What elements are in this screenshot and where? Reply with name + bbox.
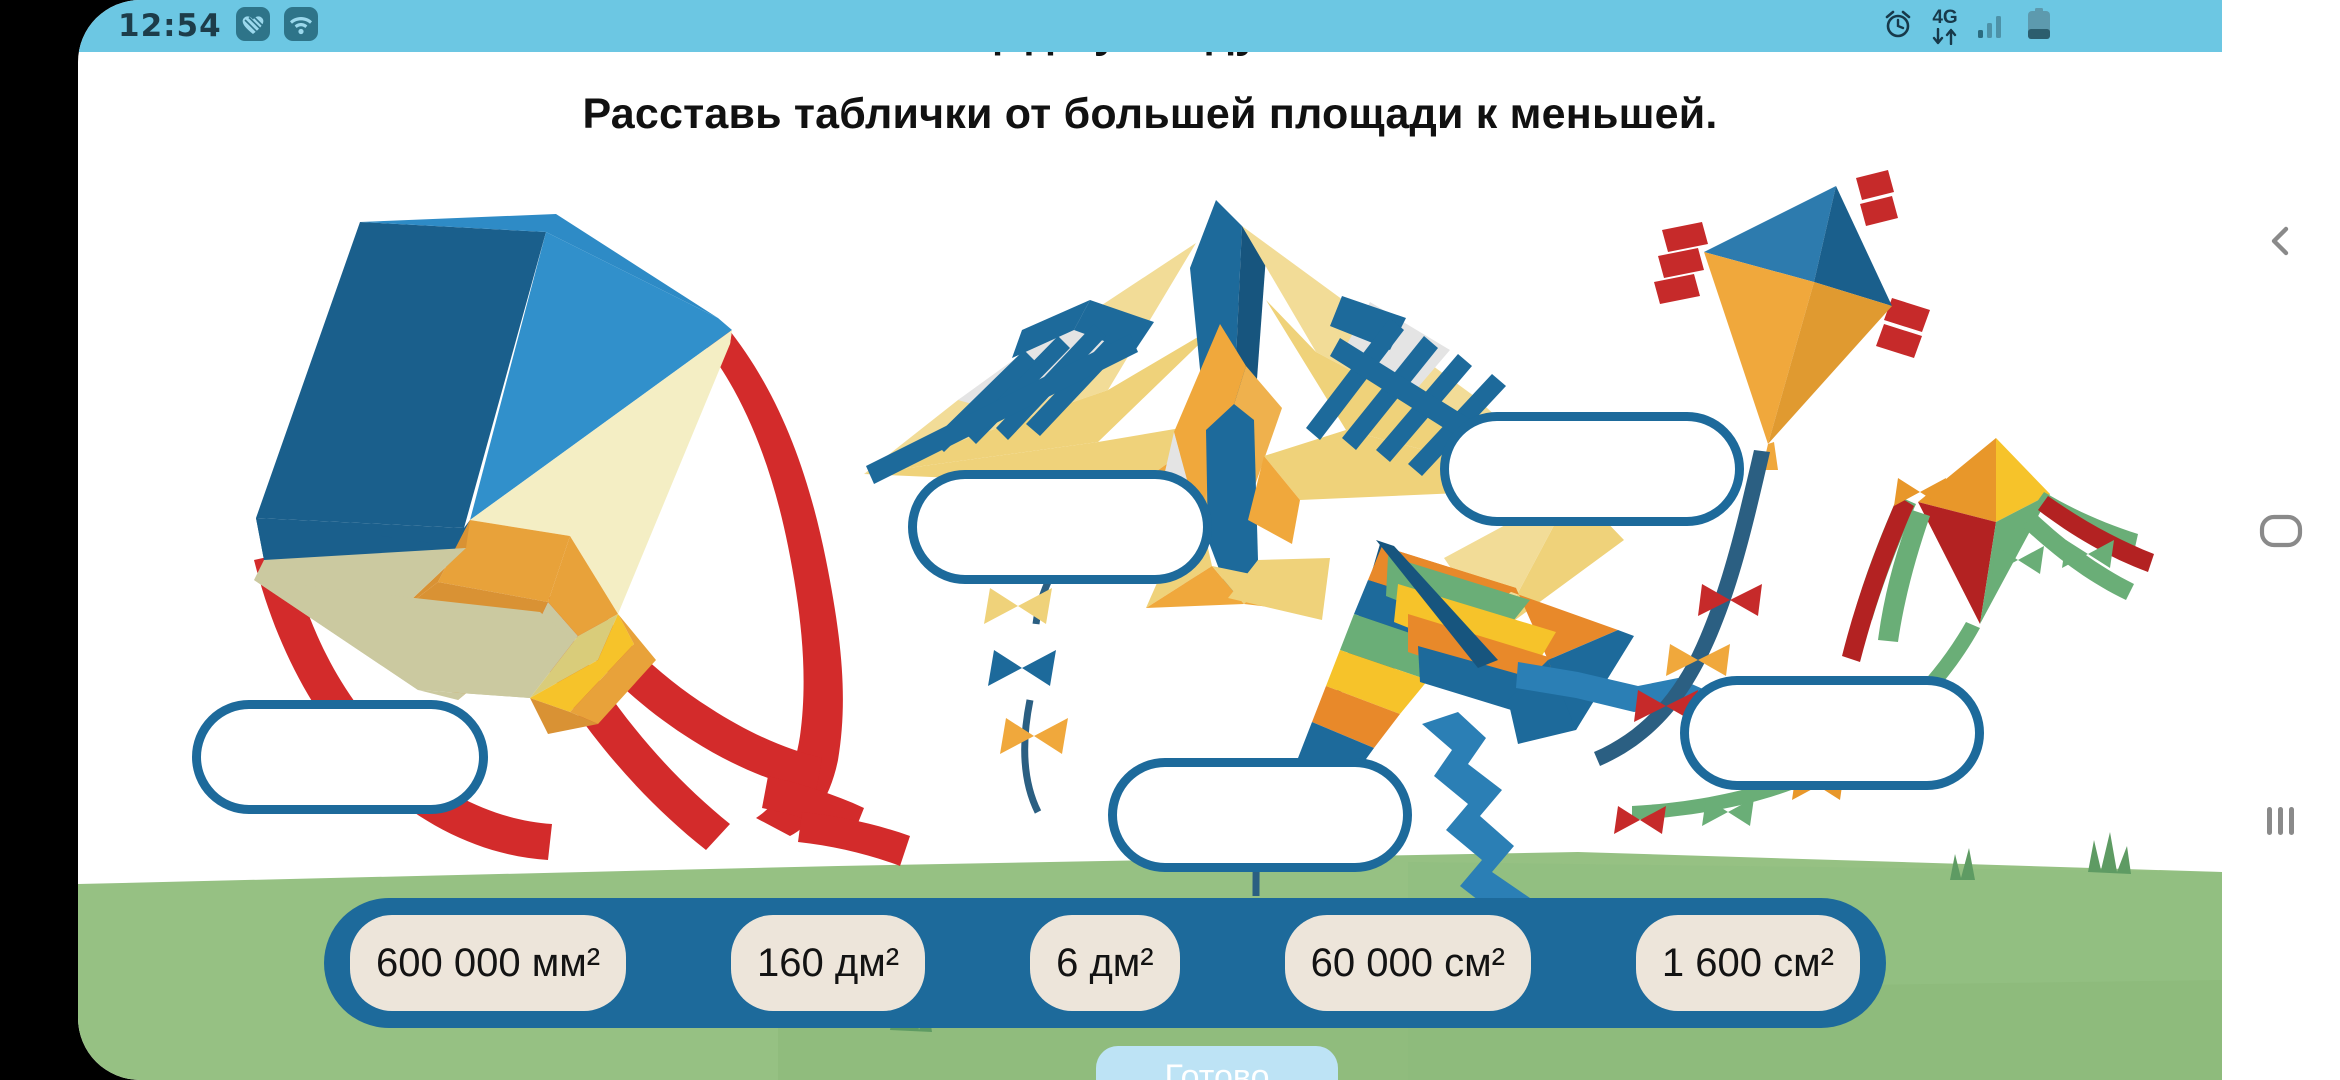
mobile-data-icon: 4G: [1930, 8, 1960, 45]
question-instruction: Расставь таблички от большей площади к м…: [78, 90, 2222, 139]
android-nav-bar: [2222, 0, 2340, 1080]
app-surface: Какая площадь у воздушных змеев? Расстав…: [78, 0, 2222, 1080]
dropzone-2[interactable]: [908, 470, 1212, 584]
answer-chip-label: 60 000 см²: [1311, 941, 1505, 986]
status-bar: 12:54: [78, 0, 2222, 52]
answer-chip-label: 6 дм²: [1056, 941, 1154, 986]
phone-screen: Какая площадь у воздушных змеев? Расстав…: [0, 0, 2340, 1080]
answer-chip-label: 600 000 мм²: [376, 941, 600, 986]
answer-chip[interactable]: 160 дм²: [731, 915, 925, 1011]
recents-icon[interactable]: [2222, 776, 2340, 866]
answer-chip[interactable]: 600 000 мм²: [350, 915, 626, 1011]
dropzone-1[interactable]: [192, 700, 488, 814]
dropzone-3[interactable]: [1108, 758, 1412, 872]
signal-icon: [1976, 9, 2010, 44]
answer-chip-label: 160 дм²: [757, 941, 899, 986]
status-bar-left: 12:54: [118, 7, 318, 46]
back-chevron-icon[interactable]: [2222, 196, 2340, 286]
status-bar-right: 4G: [1882, 8, 2052, 45]
submit-button[interactable]: Готово: [1096, 1046, 1338, 1080]
status-clock: 12:54: [118, 8, 222, 44]
answer-chip[interactable]: 60 000 см²: [1285, 915, 1531, 1011]
wifi-icon: [284, 7, 318, 46]
answer-chip[interactable]: 1 600 см²: [1636, 915, 1860, 1011]
battery-icon: [2026, 8, 2052, 45]
health-icon: [236, 7, 270, 46]
answer-tray: 600 000 мм² 160 дм² 6 дм² 60 000 см² 1 6…: [324, 898, 1886, 1028]
home-icon[interactable]: [2222, 486, 2340, 576]
dropzone-5[interactable]: [1680, 676, 1984, 790]
dropzone-4[interactable]: [1440, 412, 1744, 526]
network-type-label: 4G: [1932, 8, 1957, 27]
alarm-icon: [1882, 8, 1914, 45]
submit-button-label: Готово: [1165, 1058, 1270, 1080]
answer-chip[interactable]: 6 дм²: [1030, 915, 1180, 1011]
answer-chip-label: 1 600 см²: [1662, 941, 1834, 986]
